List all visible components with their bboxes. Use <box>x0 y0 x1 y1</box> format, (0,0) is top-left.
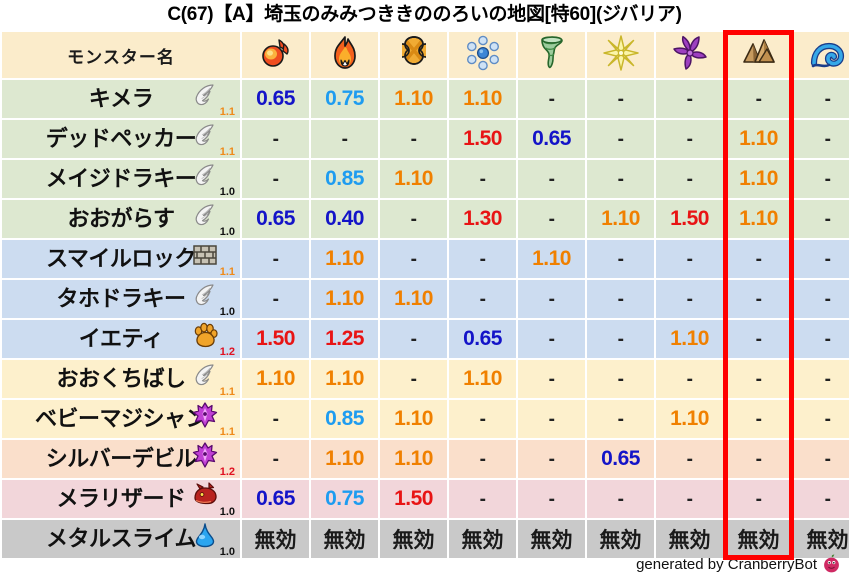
resistance-value: 1.10 <box>670 327 709 350</box>
resistance-cell: - <box>518 200 585 238</box>
resistance-cell: 1.50 <box>242 320 309 358</box>
resistance-cell: - <box>725 80 792 118</box>
resistance-value: 1.10 <box>670 407 709 430</box>
resistance-value: - <box>342 129 348 150</box>
resistance-cell: - <box>656 80 723 118</box>
resistance-value: - <box>549 329 555 350</box>
table-row: スマイルロック1.1-1.10--1.10---- <box>2 240 849 278</box>
resistance-cell: 無効 <box>587 520 654 558</box>
resistance-value: - <box>618 249 624 270</box>
resistance-cell: - <box>725 480 792 518</box>
family-badge: 1.0 <box>192 481 236 517</box>
monster-name-label: タホドラキー <box>56 280 185 318</box>
resistance-cell: - <box>794 160 849 198</box>
resistance-value: 0.65 <box>532 127 571 150</box>
tornado-icon <box>534 35 570 71</box>
resistance-value: - <box>687 289 693 310</box>
resistance-value: 0.85 <box>325 167 364 190</box>
monster-name-cell[interactable]: イエティ1.2 <box>2 320 240 358</box>
resistance-cell: 無効 <box>725 520 792 558</box>
resistance-cell: 0.85 <box>311 160 378 198</box>
resistance-cell: 無効 <box>380 520 447 558</box>
table-row: ベビーマジシャン1.1-0.851.10---1.10-- <box>2 400 849 438</box>
resistance-cell: 0.40 <box>311 200 378 238</box>
resistance-cell: 0.75 <box>311 80 378 118</box>
snowflake-icon <box>465 35 501 71</box>
demon-icon <box>192 402 218 428</box>
table-row: メタルスライム1.0無効無効無効無効無効無効無効無効無効 <box>2 520 849 558</box>
resistance-value: - <box>549 89 555 110</box>
resistance-value: 無効 <box>738 529 780 552</box>
wing-icon <box>192 82 218 108</box>
family-badge: 1.1 <box>192 241 236 277</box>
family-multiplier: 1.1 <box>220 427 235 438</box>
monster-name-label: スマイルロック <box>46 240 196 278</box>
resistance-cell: 1.50 <box>656 200 723 238</box>
resistance-value: - <box>756 289 762 310</box>
resistance-value: 0.75 <box>325 487 364 510</box>
resistance-value: - <box>549 369 555 390</box>
header-element-ドルマ[interactable] <box>656 32 723 78</box>
resistance-value: 0.65 <box>256 87 295 110</box>
resistance-cell: - <box>449 240 516 278</box>
resistance-cell: 0.65 <box>587 440 654 478</box>
resistance-value: 1.10 <box>739 207 778 230</box>
resistance-value: - <box>825 249 831 270</box>
resistance-cell: - <box>242 160 309 198</box>
resistance-cell: 0.65 <box>242 80 309 118</box>
monster-name-cell[interactable]: シルバーデビル1.2 <box>2 440 240 478</box>
resistance-value: - <box>480 409 486 430</box>
resistance-value: 0.65 <box>463 327 502 350</box>
resistance-cell: 1.10 <box>311 440 378 478</box>
resistance-value: 0.65 <box>256 487 295 510</box>
resistance-value: - <box>825 329 831 350</box>
resistance-cell: - <box>242 280 309 318</box>
resistance-cell: - <box>656 160 723 198</box>
resistance-value: 1.10 <box>325 367 364 390</box>
mountain-icon <box>741 35 777 71</box>
resistance-cell: - <box>518 80 585 118</box>
resistance-value: - <box>618 369 624 390</box>
table-row: おおがらす1.00.650.40-1.30-1.101.501.10- <box>2 200 849 238</box>
resistance-value: 1.10 <box>532 247 571 270</box>
resistance-cell: 1.10 <box>311 360 378 398</box>
resistance-value: - <box>549 449 555 470</box>
monster-name-label: メイジドラキー <box>46 160 197 198</box>
wing-icon <box>192 202 218 228</box>
resistance-cell: - <box>380 120 447 158</box>
resistance-value: - <box>825 209 831 230</box>
monster-name-label: おおがらす <box>67 200 174 238</box>
resistance-cell: - <box>380 320 447 358</box>
resistance-cell: - <box>725 240 792 278</box>
resistance-cell: 0.65 <box>449 320 516 358</box>
resistance-value: - <box>825 89 831 110</box>
resistance-value: - <box>825 369 831 390</box>
resistance-value: 1.10 <box>325 447 364 470</box>
resistance-value: 無効 <box>393 529 435 552</box>
resistance-value: - <box>756 369 762 390</box>
resistance-cell: - <box>794 280 849 318</box>
header-element-イオ[interactable] <box>380 32 447 78</box>
resistance-cell: - <box>587 400 654 438</box>
slime-icon <box>192 522 218 548</box>
monster-name-label: デッドペッカー <box>46 120 197 158</box>
resistance-value: 無効 <box>324 529 366 552</box>
family-badge: 1.2 <box>192 441 236 477</box>
resistance-cell: - <box>242 440 309 478</box>
resistance-value: 1.10 <box>739 167 778 190</box>
resistance-cell: 無効 <box>794 520 849 558</box>
resistance-cell: - <box>449 160 516 198</box>
resistance-cell: - <box>311 120 378 158</box>
resistance-value: - <box>687 449 693 470</box>
fire-ball-icon <box>258 35 294 71</box>
monster-name-cell[interactable]: デッドペッカー1.1 <box>2 120 240 158</box>
resistance-cell: 0.65 <box>242 200 309 238</box>
resistance-cell: - <box>587 240 654 278</box>
family-multiplier: 1.1 <box>220 387 235 398</box>
resistance-cell: - <box>656 360 723 398</box>
resistance-value: - <box>273 449 279 470</box>
resistance-value: - <box>273 409 279 430</box>
family-multiplier: 1.0 <box>220 507 235 518</box>
resistance-value: - <box>618 409 624 430</box>
resistance-cell: - <box>449 400 516 438</box>
monster-name-cell[interactable]: おおがらす1.0 <box>2 200 240 238</box>
header-element-バギ[interactable] <box>518 32 585 78</box>
resistance-cell: - <box>518 280 585 318</box>
resistance-value: - <box>825 129 831 150</box>
resistance-value: - <box>687 129 693 150</box>
resistance-cell: 0.65 <box>518 120 585 158</box>
resistance-cell: - <box>794 320 849 358</box>
resistance-cell: - <box>656 480 723 518</box>
resistance-cell: - <box>518 320 585 358</box>
resistance-cell: - <box>656 240 723 278</box>
family-multiplier: 1.2 <box>220 347 235 358</box>
monster-name-label: イエティ <box>79 320 163 358</box>
resistance-cell: - <box>656 440 723 478</box>
monster-name-label: メタルスライム <box>46 520 196 558</box>
resistance-value: - <box>480 289 486 310</box>
resistance-cell: 1.10 <box>380 280 447 318</box>
monster-name-cell[interactable]: スマイルロック1.1 <box>2 240 240 278</box>
resistance-value: 無効 <box>669 529 711 552</box>
resistance-cell: 0.65 <box>242 480 309 518</box>
resistance-value: - <box>687 369 693 390</box>
brick-wall-icon <box>192 242 218 268</box>
resistance-value: 1.50 <box>670 207 709 230</box>
resistance-cell: 無効 <box>518 520 585 558</box>
resistance-cell: 1.10 <box>725 200 792 238</box>
resistance-cell: - <box>656 120 723 158</box>
explosion-icon <box>396 35 432 71</box>
lightning-star-icon <box>603 35 639 71</box>
resistance-cell: 無効 <box>449 520 516 558</box>
resistance-cell: 無効 <box>311 520 378 558</box>
footer-credit: generated by CranberryBot <box>636 554 841 580</box>
resistance-value: 0.65 <box>256 207 295 230</box>
family-badge: 1.1 <box>192 81 236 117</box>
resistance-cell: 1.30 <box>449 200 516 238</box>
resistance-value: 1.25 <box>325 327 364 350</box>
resistance-cell: 1.10 <box>587 200 654 238</box>
bonfire-icon <box>327 35 363 71</box>
monster-name-label: おおくちばし <box>56 360 185 398</box>
resistance-cell: 1.10 <box>449 80 516 118</box>
resistance-cell: - <box>449 280 516 318</box>
resistance-value: - <box>411 209 417 230</box>
monster-name-label: メラリザード <box>56 480 185 518</box>
resistance-cell: - <box>242 120 309 158</box>
resistance-value: 1.10 <box>739 127 778 150</box>
resistance-value: - <box>411 129 417 150</box>
table-row: タホドラキー1.0-1.101.10------ <box>2 280 849 318</box>
table-row: メイジドラキー1.0-0.851.10----1.10- <box>2 160 849 198</box>
resistance-value: - <box>480 249 486 270</box>
cranberry-icon <box>822 554 841 580</box>
resistance-value: 1.10 <box>463 367 502 390</box>
resistance-cell: 無効 <box>242 520 309 558</box>
wing-icon <box>192 162 218 188</box>
resistance-cell: - <box>587 120 654 158</box>
resistance-cell: - <box>587 480 654 518</box>
resistance-value: - <box>618 89 624 110</box>
resistance-value: - <box>480 169 486 190</box>
monster-name-cell[interactable]: メイジドラキー1.0 <box>2 160 240 198</box>
resistance-cell: 1.50 <box>380 480 447 518</box>
resistance-value: - <box>756 249 762 270</box>
resistance-cell: - <box>518 480 585 518</box>
resistance-cell: - <box>725 280 792 318</box>
resistance-value: - <box>687 249 693 270</box>
resistance-value: - <box>618 489 624 510</box>
resistance-value: 1.10 <box>601 207 640 230</box>
resistance-cell: 1.50 <box>449 120 516 158</box>
resistance-cell: - <box>518 160 585 198</box>
resistance-value: 無効 <box>807 529 849 552</box>
family-badge: 1.0 <box>192 201 236 237</box>
resistance-value: - <box>687 169 693 190</box>
resistance-value: 無効 <box>531 529 573 552</box>
resistance-cell: 1.10 <box>656 400 723 438</box>
family-badge: 1.2 <box>192 321 236 357</box>
resistance-value: 1.10 <box>394 87 433 110</box>
resistance-value: 1.10 <box>394 407 433 430</box>
monster-name-cell[interactable]: メタルスライム1.0 <box>2 520 240 558</box>
resistance-cell: - <box>794 360 849 398</box>
resistance-cell: 1.10 <box>380 440 447 478</box>
resistance-cell: - <box>725 400 792 438</box>
resistance-value: - <box>756 89 762 110</box>
resistance-cell: - <box>656 280 723 318</box>
resistance-cell: 1.10 <box>380 400 447 438</box>
resistance-value: - <box>549 489 555 510</box>
resistance-cell: 1.10 <box>449 360 516 398</box>
table-row: シルバーデビル1.2-1.101.10--0.65--- <box>2 440 849 478</box>
resistance-value: - <box>273 129 279 150</box>
weakness-table: モンスター名 キメラ1.10.650.751.101.10-----デッドペッカ… <box>0 30 849 560</box>
family-badge: 1.0 <box>192 521 236 557</box>
wing-icon <box>192 282 218 308</box>
resistance-value: 無効 <box>600 529 642 552</box>
monster-name-cell[interactable]: タホドラキー1.0 <box>2 280 240 318</box>
resistance-cell: 1.10 <box>311 280 378 318</box>
table-body: キメラ1.10.650.751.101.10-----デッドペッカー1.1---… <box>2 80 849 558</box>
resistance-value: - <box>273 249 279 270</box>
resistance-value: 無効 <box>255 529 297 552</box>
family-multiplier: 1.1 <box>220 267 235 278</box>
table-header-row: モンスター名 <box>2 32 849 78</box>
family-multiplier: 1.1 <box>220 147 235 158</box>
table-row: キメラ1.10.650.751.101.10----- <box>2 80 849 118</box>
header-element-ジバリア[interactable] <box>725 32 792 78</box>
page-title: C(67)【A】埼玉のみみつききののろいの地図[特60](ジバリア) <box>0 0 849 30</box>
resistance-value: - <box>480 489 486 510</box>
resistance-cell: 無効 <box>656 520 723 558</box>
resistance-cell: - <box>587 320 654 358</box>
resistance-cell: - <box>794 440 849 478</box>
resistance-cell: - <box>518 360 585 398</box>
resistance-value: 1.10 <box>463 87 502 110</box>
resistance-cell: - <box>380 240 447 278</box>
family-badge: 1.1 <box>192 361 236 397</box>
header-element-ヒャド[interactable] <box>449 32 516 78</box>
monster-name-cell[interactable]: ベビーマジシャン1.1 <box>2 400 240 438</box>
header-element-デイン[interactable] <box>587 32 654 78</box>
resistance-cell: - <box>518 400 585 438</box>
resistance-cell: 0.85 <box>311 400 378 438</box>
resistance-cell: 1.10 <box>380 80 447 118</box>
resistance-cell: - <box>587 80 654 118</box>
resistance-value: - <box>549 409 555 430</box>
resistance-value: - <box>273 169 279 190</box>
resistance-value: - <box>756 489 762 510</box>
resistance-cell: - <box>725 440 792 478</box>
family-badge: 1.0 <box>192 161 236 197</box>
resistance-cell: - <box>587 360 654 398</box>
paw-print-icon <box>192 322 218 348</box>
resistance-value: - <box>825 289 831 310</box>
table-row: おおくちばし1.11.101.10-1.10----- <box>2 360 849 398</box>
dark-swirl-icon <box>672 35 708 71</box>
resistance-value: - <box>411 369 417 390</box>
resistance-value: - <box>549 209 555 230</box>
wing-icon <box>192 362 218 388</box>
wing-icon <box>192 122 218 148</box>
resistance-cell: - <box>794 240 849 278</box>
resistance-value: - <box>756 449 762 470</box>
family-multiplier: 1.1 <box>220 107 235 118</box>
family-multiplier: 1.0 <box>220 187 235 198</box>
header-element-メラガイアー[interactable] <box>311 32 378 78</box>
resistance-value: - <box>825 169 831 190</box>
resistance-value: 1.50 <box>394 487 433 510</box>
monster-name-cell[interactable]: おおくちばし1.1 <box>2 360 240 398</box>
footer-text: generated by CranberryBot <box>636 556 817 573</box>
table-row: イエティ1.21.501.25-0.65--1.10-- <box>2 320 849 358</box>
resistance-value: - <box>618 169 624 190</box>
resistance-value: 0.85 <box>325 407 364 430</box>
resistance-cell: - <box>725 320 792 358</box>
resistance-value: - <box>687 489 693 510</box>
table-row: メラリザード1.00.650.751.50------ <box>2 480 849 518</box>
resistance-cell: - <box>794 200 849 238</box>
resistance-value: 無効 <box>462 529 504 552</box>
resistance-cell: - <box>242 240 309 278</box>
resistance-value: - <box>411 329 417 350</box>
resistance-value: - <box>273 289 279 310</box>
resistance-value: - <box>825 489 831 510</box>
resistance-value: - <box>825 449 831 470</box>
resistance-cell: - <box>725 360 792 398</box>
header-element-マヒャド[interactable] <box>794 32 849 78</box>
resistance-cell: 1.10 <box>242 360 309 398</box>
resistance-value: 1.10 <box>394 287 433 310</box>
resistance-cell: - <box>794 80 849 118</box>
resistance-cell: 1.10 <box>725 120 792 158</box>
resistance-value: 0.65 <box>601 447 640 470</box>
family-multiplier: 1.0 <box>220 227 235 238</box>
resistance-cell: - <box>794 400 849 438</box>
resistance-cell: - <box>518 440 585 478</box>
monster-name-label: シルバーデビル <box>46 440 197 478</box>
resistance-cell: - <box>380 360 447 398</box>
header-element-メラ[interactable] <box>242 32 309 78</box>
dragon-head-icon <box>192 482 218 508</box>
resistance-cell: - <box>380 200 447 238</box>
resistance-value: - <box>411 249 417 270</box>
family-badge: 1.1 <box>192 401 236 437</box>
resistance-cell: - <box>587 280 654 318</box>
family-badge: 1.1 <box>192 121 236 157</box>
monster-name-cell[interactable]: キメラ1.1 <box>2 80 240 118</box>
resistance-value: - <box>756 409 762 430</box>
header-monster-name: モンスター名 <box>2 32 240 78</box>
resistance-value: - <box>618 329 624 350</box>
resistance-value: 1.10 <box>256 367 295 390</box>
resistance-value: 1.10 <box>394 167 433 190</box>
resistance-cell: - <box>449 440 516 478</box>
monster-name-label: ベビーマジシャン <box>35 400 207 438</box>
resistance-cell: - <box>794 120 849 158</box>
resistance-value: - <box>825 409 831 430</box>
resistance-cell: - <box>242 400 309 438</box>
resistance-value: 0.75 <box>325 87 364 110</box>
family-multiplier: 1.2 <box>220 467 235 478</box>
resistance-value: 1.50 <box>463 127 502 150</box>
resistance-value: - <box>756 329 762 350</box>
water-wave-icon <box>810 35 846 71</box>
family-multiplier: 1.0 <box>220 307 235 318</box>
resistance-value: - <box>549 169 555 190</box>
resistance-value: - <box>618 129 624 150</box>
resistance-value: 0.40 <box>325 207 364 230</box>
monster-name-label: キメラ <box>89 80 154 118</box>
resistance-cell: - <box>794 480 849 518</box>
resistance-cell: 1.10 <box>518 240 585 278</box>
resistance-value: - <box>687 89 693 110</box>
family-badge: 1.0 <box>192 281 236 317</box>
resistance-value: - <box>618 289 624 310</box>
resistance-cell: 1.10 <box>380 160 447 198</box>
table-row: デッドペッカー1.1---1.500.65--1.10- <box>2 120 849 158</box>
monster-name-cell[interactable]: メラリザード1.0 <box>2 480 240 518</box>
demon-icon <box>192 442 218 468</box>
resistance-value: - <box>480 449 486 470</box>
